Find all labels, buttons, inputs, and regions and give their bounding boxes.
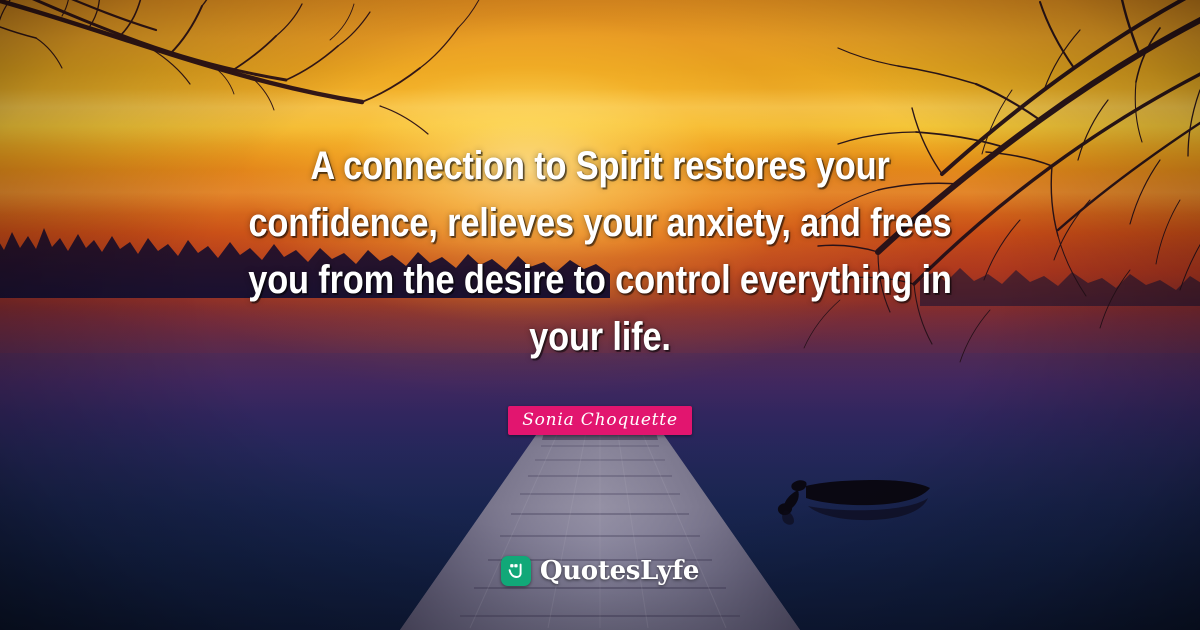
quote-card: A connection to Spirit restores your con… [0,0,1200,630]
quote-line-4: your life. [136,309,1065,366]
quote-line-1: A connection to Spirit restores your [136,138,1065,195]
quoteslyfe-wordmark: QuotesLyfe [540,556,699,586]
quote-line-3: you from the desire to control everythin… [136,252,1065,309]
quoteslyfe-logo[interactable]: QuotesLyfe [0,556,1200,586]
quote-smiley-icon [501,556,531,586]
quote-text: A connection to Spirit restores your con… [0,138,1200,366]
author-name-badge[interactable]: Sonia Choquette [508,406,692,435]
quote-line-2: confidence, relieves your anxiety, and f… [136,195,1065,252]
author-attribution: Sonia Choquette [0,406,1200,435]
